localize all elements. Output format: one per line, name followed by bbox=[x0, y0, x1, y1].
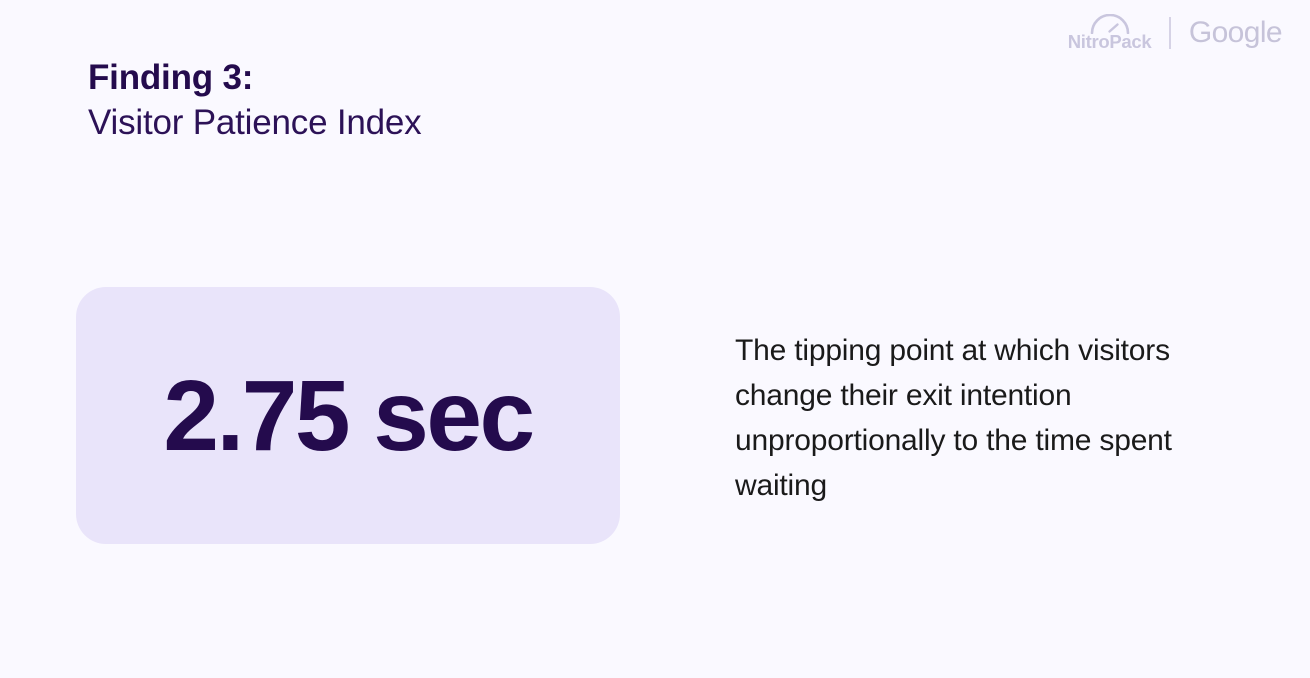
google-wordmark: Google bbox=[1189, 18, 1282, 48]
page-title: Finding 3: Visitor Patience Index bbox=[88, 56, 421, 146]
brand-bar: NitroPack Google bbox=[1068, 14, 1282, 52]
description-text: The tipping point at which visitors chan… bbox=[735, 328, 1215, 508]
finding-label: Finding 3: bbox=[88, 56, 421, 101]
stat-value: 2.75 sec bbox=[163, 366, 532, 466]
nitropack-wordmark: NitroPack bbox=[1068, 33, 1152, 52]
nitropack-logo: NitroPack bbox=[1068, 14, 1152, 52]
brand-divider bbox=[1169, 17, 1171, 49]
finding-subtitle: Visitor Patience Index bbox=[88, 101, 421, 146]
stat-card: 2.75 sec bbox=[76, 287, 620, 544]
